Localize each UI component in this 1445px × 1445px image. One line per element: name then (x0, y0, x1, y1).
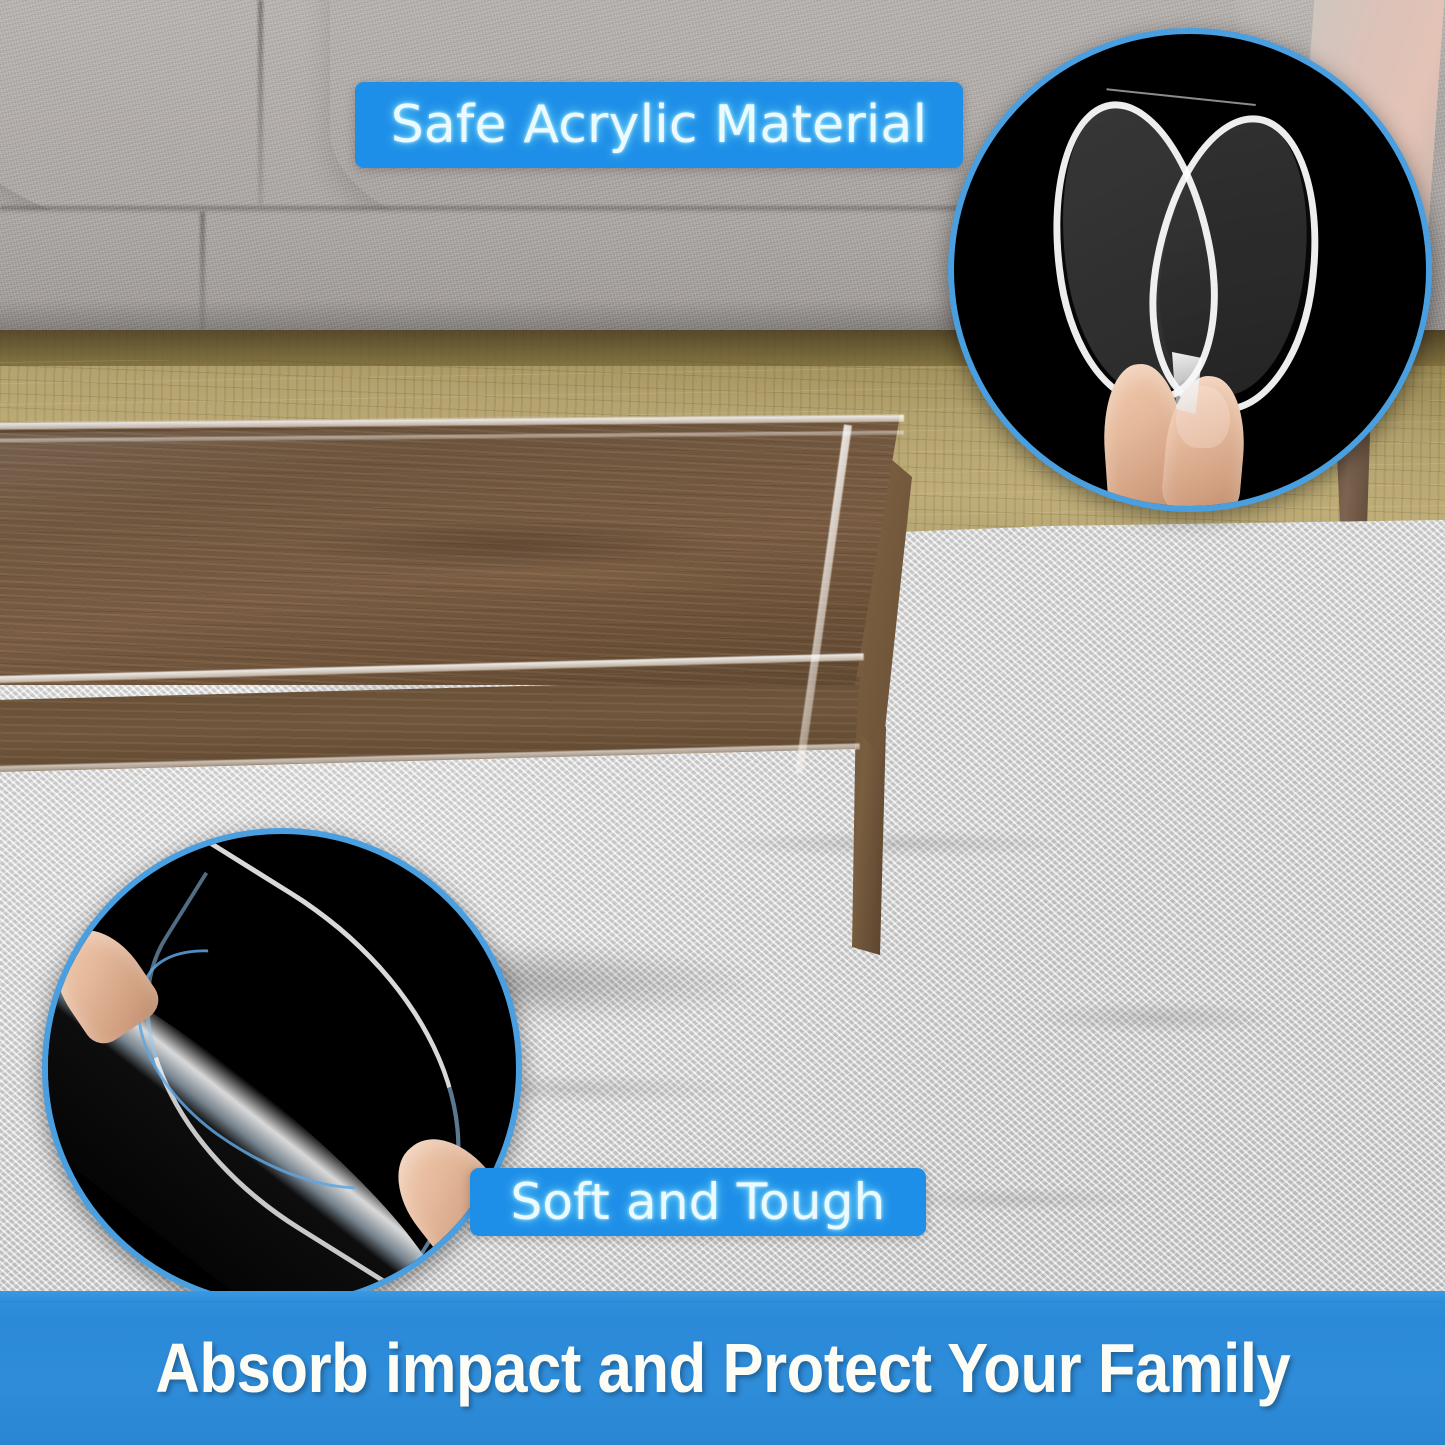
product-feature-image: Safe Acrylic Material Soft and Tough Abs… (0, 0, 1445, 1445)
badge-safe-acrylic-material: Safe Acrylic Material (355, 82, 963, 168)
flexible-sheet-illustration (48, 834, 516, 1302)
table-front-apron (0, 677, 880, 797)
coffee-table (0, 415, 980, 845)
inset-flexible-sheet-bend (42, 828, 522, 1308)
bottom-banner: Absorb impact and Protect Your Family (0, 1291, 1445, 1445)
banner-headline: Absorb impact and Protect Your Family (155, 1328, 1290, 1408)
acrylic-loop-illustration (954, 34, 1426, 506)
banner-top-edge (0, 1291, 1445, 1303)
badge-soft-and-tough: Soft and Tough (470, 1168, 926, 1236)
inset-acrylic-strip-loops (948, 28, 1432, 512)
